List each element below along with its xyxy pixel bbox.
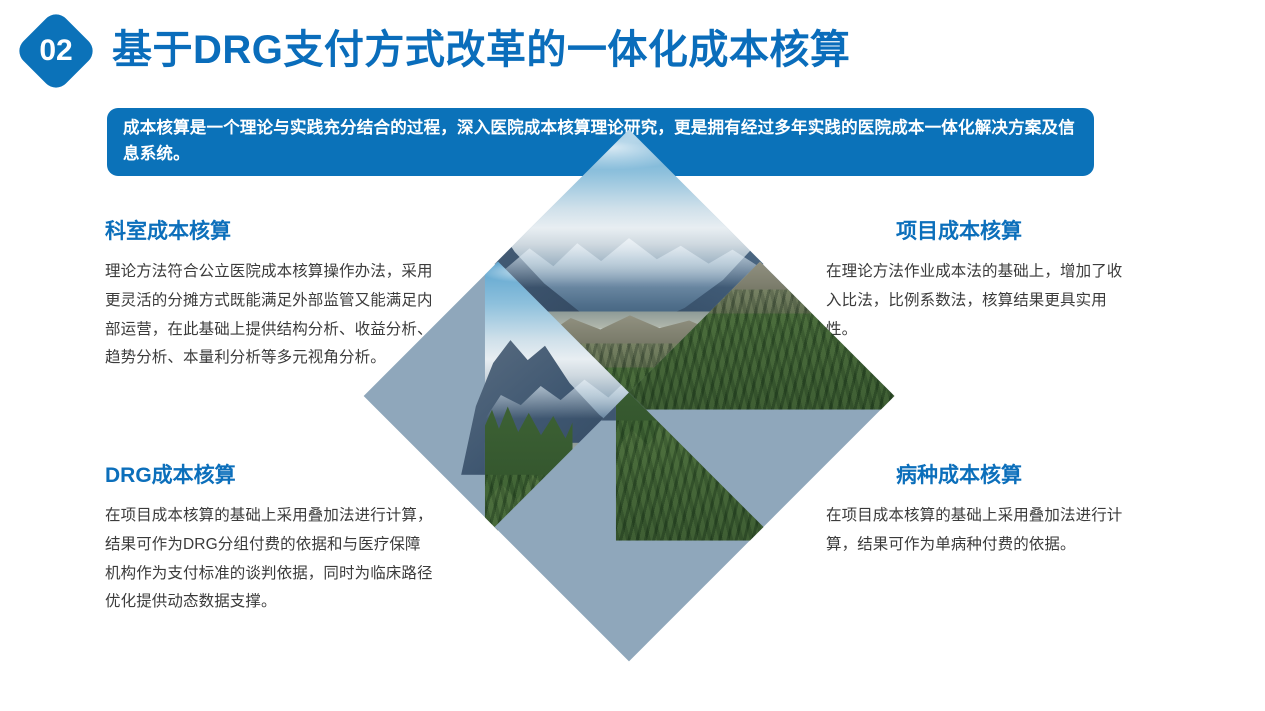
block-heading-drg-cost: DRG成本核算 [105, 463, 435, 488]
section-number-badge: 02 [13, 8, 99, 94]
block-heading-disease-cost: 病种成本核算 [826, 463, 1092, 488]
block-body-dept-cost: 理论方法符合公立医院成本核算操作办法，采用更灵活的分摊方式既能满足外部监管又能满… [105, 258, 435, 373]
diamond-photo-mosaic [430, 196, 828, 595]
block-heading-dept-cost: 科室成本核算 [105, 219, 435, 244]
block-body-disease-cost: 在项目成本核算的基础上采用叠加法进行计算，结果可作为单病种付费的依据。 [826, 502, 1126, 559]
block-body-project-cost: 在理论方法作业成本法的基础上，增加了收入比法，比例系数法，核算结果更具实用性。 [826, 258, 1126, 344]
content-block-disease-cost: 病种成本核算 在项目成本核算的基础上采用叠加法进行计算，结果可作为单病种付费的依… [826, 463, 1126, 560]
content-block-drg-cost: DRG成本核算 在项目成本核算的基础上采用叠加法进行计算，结果可作为DRG分组付… [105, 463, 435, 617]
badge-number-label: 02 [13, 8, 99, 94]
content-block-project-cost: 项目成本核算 在理论方法作业成本法的基础上，增加了收入比法，比例系数法，核算结果… [826, 219, 1126, 344]
slide-canvas: 02 基于DRG支付方式改革的一体化成本核算 成本核算是一个理论与实践充分结合的… [0, 0, 1265, 711]
block-body-drg-cost: 在项目成本核算的基础上采用叠加法进行计算，结果可作为DRG分组付费的依据和与医疗… [105, 502, 435, 617]
page-title: 基于DRG支付方式改革的一体化成本核算 [112, 26, 850, 74]
block-heading-project-cost: 项目成本核算 [826, 219, 1092, 244]
slide-header: 02 基于DRG支付方式改革的一体化成本核算 [0, 0, 1265, 104]
content-block-dept-cost: 科室成本核算 理论方法符合公立医院成本核算操作办法，采用更灵活的分摊方式既能满足… [105, 219, 435, 373]
